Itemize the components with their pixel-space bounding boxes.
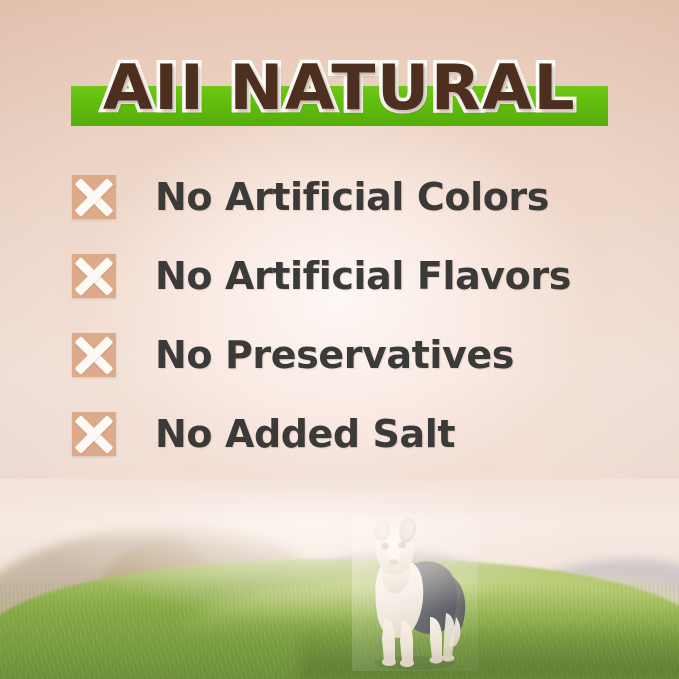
- x-mark-icon: [72, 333, 116, 377]
- photo-top-blend: [0, 479, 679, 525]
- product-claims-poster: AII NATURAL No Artificial Colors No Arti…: [0, 0, 679, 679]
- list-item: No Artificial Colors: [72, 168, 632, 226]
- banner-title: AII NATURAL: [0, 48, 679, 128]
- landscape-photo: [0, 479, 679, 679]
- list-item: No Added Salt: [72, 405, 632, 463]
- claim-label: No Preservatives: [155, 333, 514, 377]
- list-item: No Artificial Flavors: [72, 247, 632, 305]
- claims-list: No Artificial Colors No Artificial Flavo…: [72, 168, 632, 484]
- claim-label: No Artificial Colors: [155, 175, 549, 219]
- x-mark-icon: [72, 175, 116, 219]
- x-mark-icon: [72, 254, 116, 298]
- claim-label: No Artificial Flavors: [155, 254, 571, 298]
- claim-label: No Added Salt: [155, 412, 455, 456]
- title-banner: AII NATURAL: [0, 48, 679, 130]
- x-mark-icon: [72, 412, 116, 456]
- list-item: No Preservatives: [72, 326, 632, 384]
